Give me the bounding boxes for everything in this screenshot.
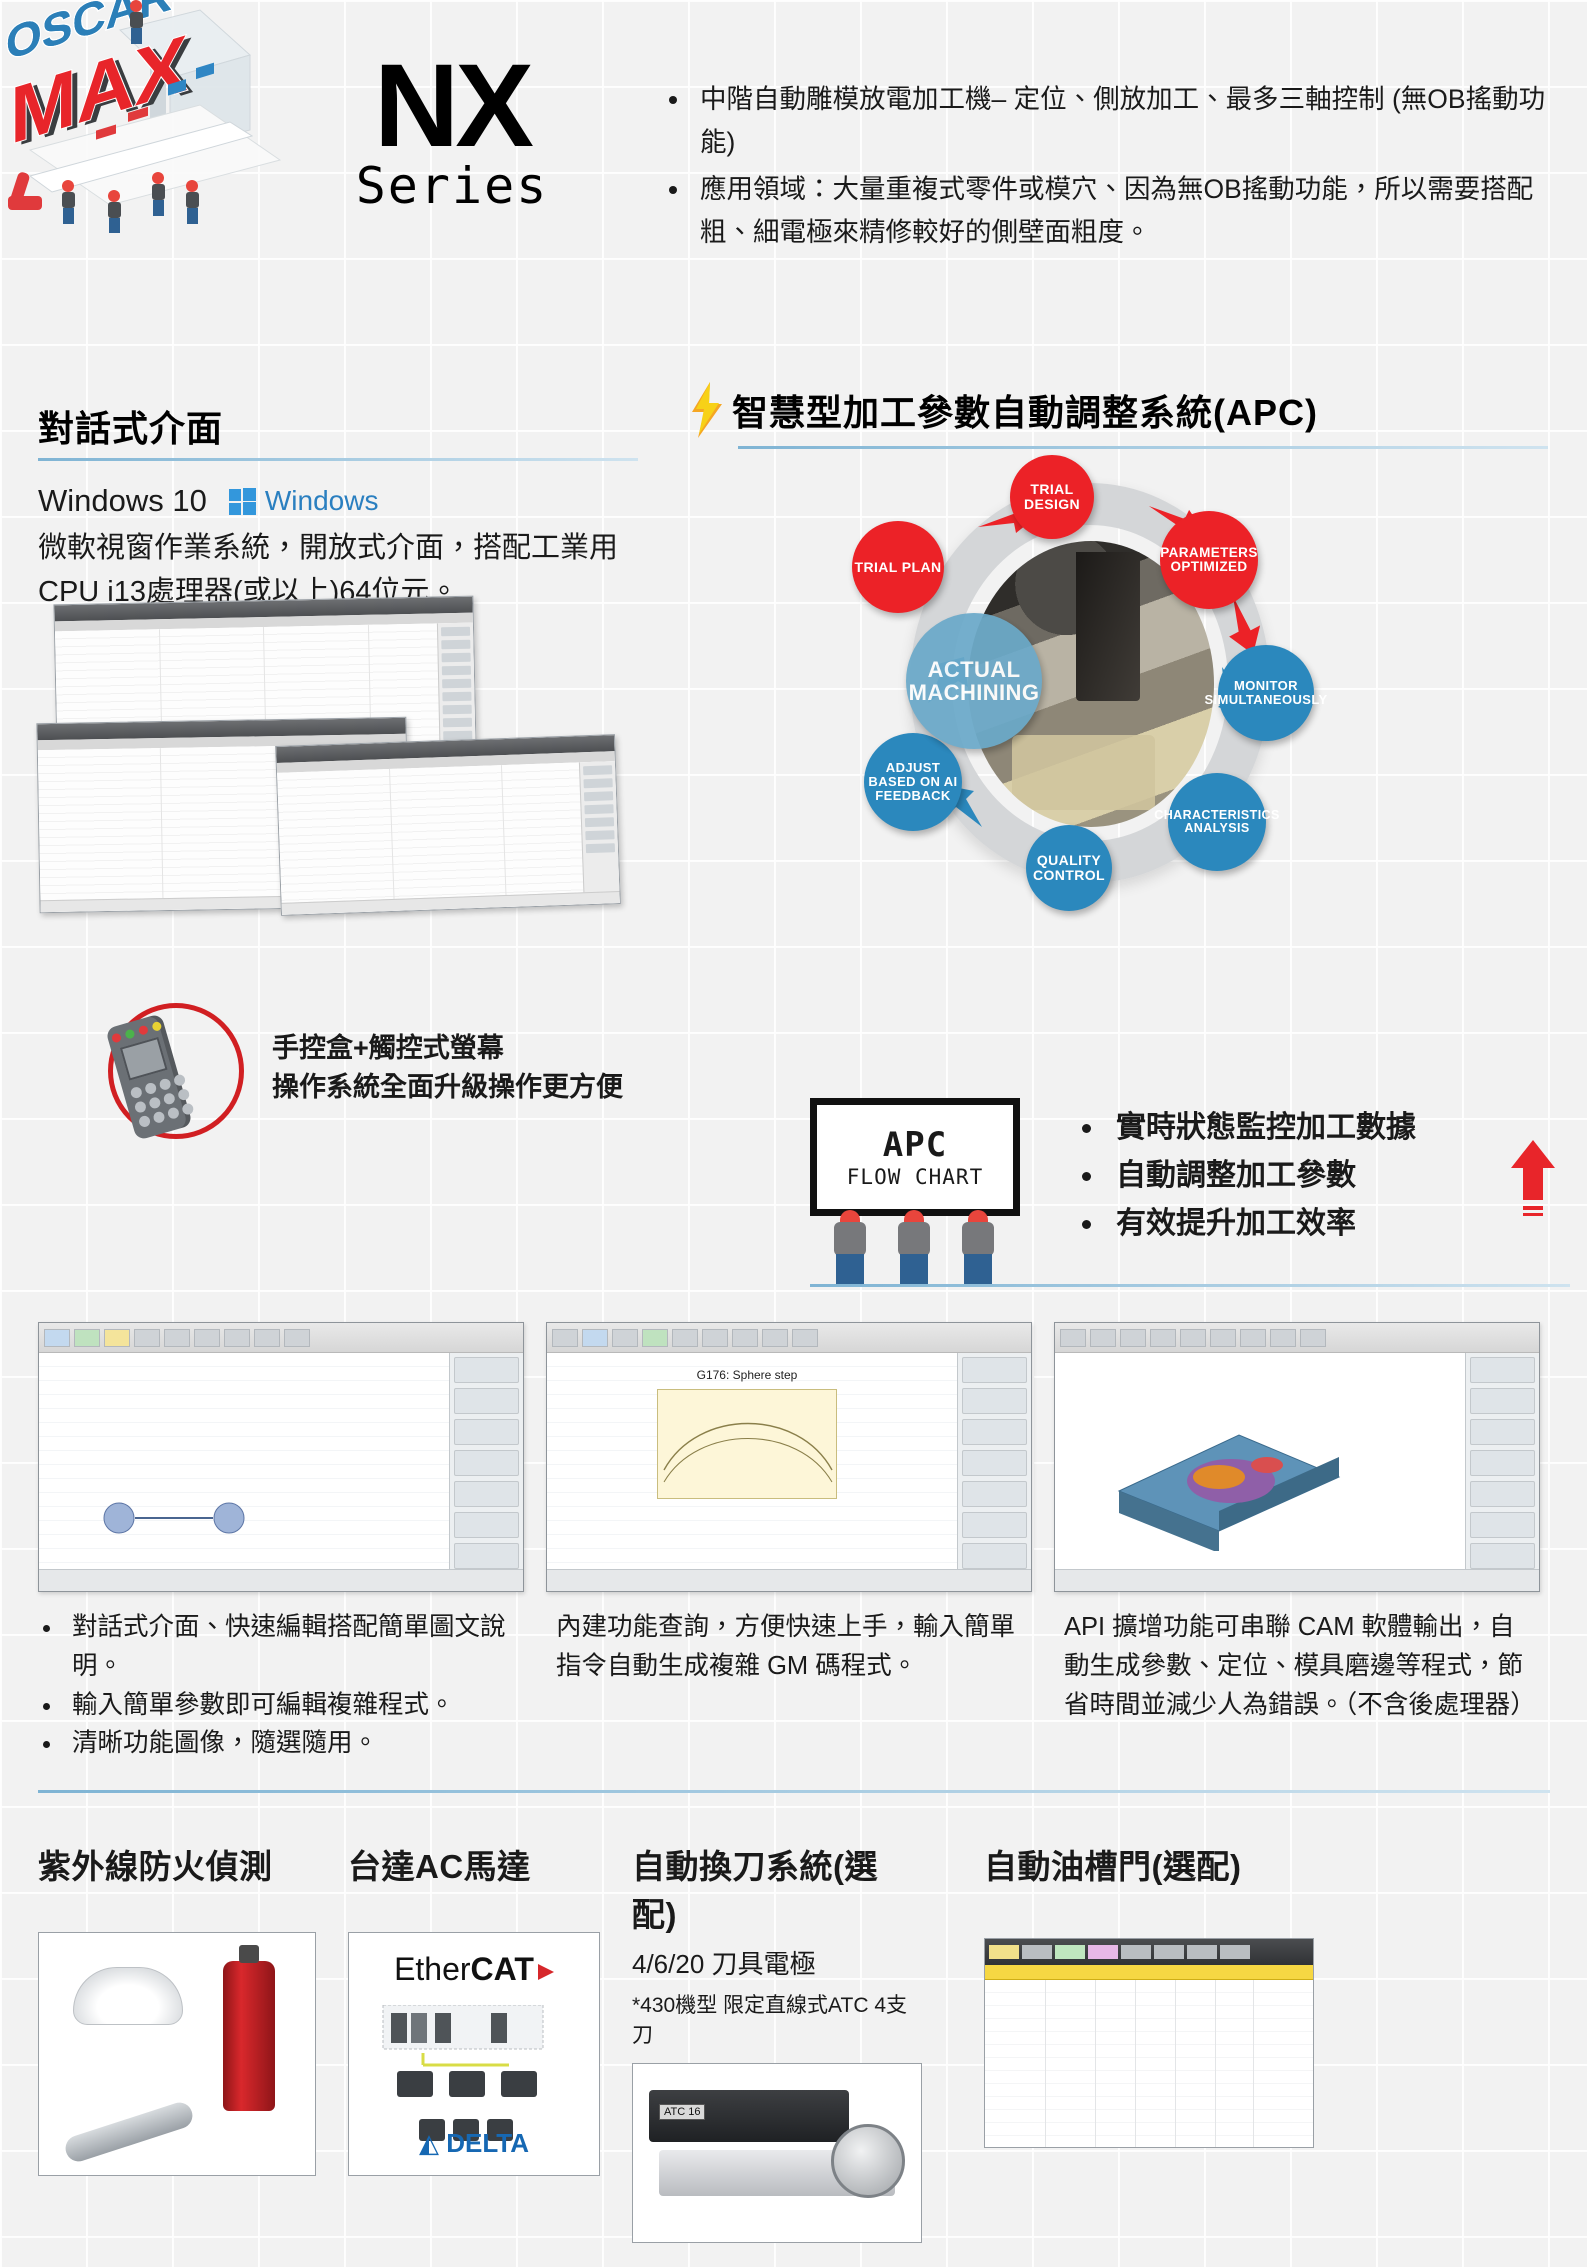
apc-benefit-item: 自動調整加工參數 <box>1106 1152 1416 1200</box>
panel-screenshot: G176: Sphere step <box>546 1322 1032 1592</box>
oscar-max-logo: OSCAR OSCAR MAX MAX <box>0 0 300 240</box>
panel-bullet: 輸入簡單參數即可編輯複雜程式。 <box>64 1686 524 1725</box>
feature-title: 紫外線防火偵測 <box>38 1840 316 1888</box>
sign-subtitle: FLOW CHART <box>847 1165 983 1189</box>
gm-code-panel: G176: Sphere step 內建功能查詢，方便快速上手，輸入簡單指令自動… <box>546 1322 1032 1763</box>
panel-description: API 擴增功能可串聯 CAM 軟體輸出，自動生成參數、定位、模具磨邊等程式，節… <box>1054 1608 1540 1724</box>
feature-auto-tool-changer: 自動換刀系統(選配) 4/6/20 刀具電極 *430機型 限定直線式ATC 4… <box>632 1840 922 2243</box>
feature-image <box>984 1938 1314 2148</box>
cam-api-panel: API 擴增功能可串聯 CAM 軟體輸出，自動生成參數、定位、模具磨邊等程式，節… <box>1054 1322 1540 1763</box>
header-bullet: 應用領域：大量重複式零件或模穴、因為無OB搖動功能，所以需要搭配粗、細電極來精修… <box>692 168 1568 254</box>
delta-logo: ◭ DELTA <box>349 2128 599 2159</box>
windows-wordmark: Windows <box>265 485 379 517</box>
apc-cycle-diagram: TRIAL DESIGN TRIAL PLAN PARAMETERS OPTIM… <box>850 455 1330 935</box>
dialog-interface-section: 對話式介面 Windows 10 Windows 微軟視窗作業系統，開放式介面，… <box>38 400 658 614</box>
pendant-keypad <box>130 1073 195 1128</box>
fire-extinguisher-icon <box>223 1961 275 2111</box>
apc-flow-chart-block: APC FLOW CHART 實時狀態監控加工數據 自動調整加工參數 有效提升加… <box>810 1098 1570 1288</box>
uv-probe-icon <box>62 2099 196 2165</box>
feature-note: *430機型 限定直線式ATC 4支刀 <box>632 1989 922 2049</box>
atc-drum-icon <box>831 2124 905 2198</box>
cycle-node-trial-plan: TRIAL PLAN <box>852 521 944 613</box>
apc-benefit-list: 實時狀態監控加工數據 自動調整加工參數 有效提升加工效率 <box>1082 1104 1416 1248</box>
cycle-node-monitor-simultaneously: MONITOR SIMULTANEOUSLY <box>1218 645 1314 741</box>
cycle-node-quality-control: QUALITY CONTROL <box>1026 825 1112 911</box>
sign-title: APC <box>883 1125 947 1165</box>
header-bullet: 中階自動雕模放電加工機– 定位、側放加工、最多三軸控制 (無OB搖動功能) <box>692 78 1568 164</box>
feature-title: 台達AC馬達 <box>348 1840 600 1888</box>
apc-section: 智慧型加工參數自動調整系統(APC) <box>690 382 1560 449</box>
feature-uv-fire-detection: 紫外線防火偵測 <box>38 1840 316 2243</box>
panel-screenshot <box>1054 1322 1540 1592</box>
page-title: NX <box>262 52 642 161</box>
ethercat-wordmark: EtherCAT <box>349 1951 599 1988</box>
cnc-screenshot-tertiary <box>275 734 621 916</box>
ethercat-arrow-icon <box>538 1964 554 1980</box>
section-divider <box>38 1790 1550 1793</box>
os-label: Windows 10 <box>38 483 207 519</box>
sign-holders-illustration <box>828 1210 1000 1288</box>
section-divider <box>738 446 1548 449</box>
oil-tank-control-screenshot <box>985 1939 1313 2147</box>
up-arrow-icon <box>1510 1138 1556 1218</box>
software-feature-panels: 對話式介面、快速編輯搭配簡單圖文說明。 輸入簡單參數即可編輯複雜程式。 清晰功能… <box>38 1322 1550 1763</box>
feature-subtitle: 4/6/20 刀具電極 <box>632 1944 922 1981</box>
cycle-center-actual-machining: ACTUAL MACHINING <box>906 613 1042 749</box>
product-title-block: NX Series <box>262 52 642 215</box>
feature-image <box>38 1932 316 2176</box>
smoke-detector-icon <box>73 1967 183 2025</box>
feature-image: ATC 16 <box>632 2063 922 2243</box>
apc-benefit-item: 實時狀態監控加工數據 <box>1106 1104 1416 1152</box>
panel-bullet: 清晰功能圖像，隨選隨用。 <box>64 1724 524 1763</box>
cycle-node-trial-design: TRIAL DESIGN <box>1010 455 1094 539</box>
pendant-caption: 手控盒+觸控式螢幕 操作系統全面升級操作更方便 <box>272 1029 623 1107</box>
feature-image: EtherCAT ◭ DELTA <box>348 1932 600 2176</box>
pendant-screen <box>120 1037 168 1081</box>
section-heading-apc: 智慧型加工參數自動調整系統(APC) <box>732 384 1318 436</box>
feature-delta-ac-motor: 台達AC馬達 EtherCAT ◭ DELTA <box>348 1840 600 2243</box>
handheld-pendant-block: 手控盒+觸控式螢幕 操作系統全面升級操作更方便 <box>108 1003 668 1153</box>
section-heading-dialog: 對話式介面 <box>38 400 658 452</box>
apc-flow-chart-sign: APC FLOW CHART <box>810 1098 1020 1216</box>
feature-auto-oil-tank-door: 自動油槽門(選配) <box>984 1840 1314 2243</box>
os-row: Windows 10 Windows <box>38 483 658 519</box>
atc-tag-label: ATC 16 <box>659 2104 705 2120</box>
windows-logo: Windows <box>229 485 379 517</box>
product-subtitle: Series <box>262 157 642 215</box>
section-divider <box>810 1284 1570 1287</box>
lightning-bolt-icon <box>690 382 724 438</box>
cycle-node-parameters-optimized: PARAMETERS OPTIMIZED <box>1160 511 1258 609</box>
cnc-software-screenshots <box>38 600 668 1000</box>
panel-description: 內建功能查詢，方便快速上手，輸入簡單指令自動生成複雜 GM 碼程式。 <box>546 1608 1032 1686</box>
feature-title: 自動換刀系統(選配) <box>632 1840 922 1936</box>
pendant-caption-line2: 操作系統全面升級操作更方便 <box>272 1068 623 1107</box>
panel-bullet: 對話式介面、快速編輯搭配簡單圖文說明。 <box>64 1608 524 1686</box>
panel-bullet-list: 對話式介面、快速編輯搭配簡單圖文說明。 輸入簡單參數即可編輯複雜程式。 清晰功能… <box>38 1608 524 1763</box>
feature-title: 自動油槽門(選配) <box>984 1840 1314 1888</box>
section-divider <box>38 458 638 461</box>
panel-screenshot <box>38 1322 524 1592</box>
cycle-node-adjust-based-on-ai-feedback: ADJUST BASED ON AI FEEDBACK <box>864 733 962 831</box>
apc-benefit-item: 有效提升加工效率 <box>1106 1200 1416 1248</box>
panel-caption: G176: Sphere step <box>658 1368 836 1382</box>
servo-motor-icon <box>379 2005 569 2115</box>
pendant-caption-line1: 手控盒+觸控式螢幕 <box>272 1029 623 1068</box>
dialog-ui-panel: 對話式介面、快速編輯搭配簡單圖文說明。 輸入簡單參數即可編輯複雜程式。 清晰功能… <box>38 1322 524 1763</box>
header-bullet-list: 中階自動雕模放電加工機– 定位、側放加工、最多三軸控制 (無OB搖動功能) 應用… <box>668 78 1568 258</box>
windows-flag-icon <box>229 488 256 515</box>
bottom-feature-row: 紫外線防火偵測 台達AC馬達 EtherCAT ◭ DELTA <box>38 1840 1550 2243</box>
cycle-node-characteristics-analysis: CHARACTERISTICS ANALYSIS <box>1168 773 1266 871</box>
